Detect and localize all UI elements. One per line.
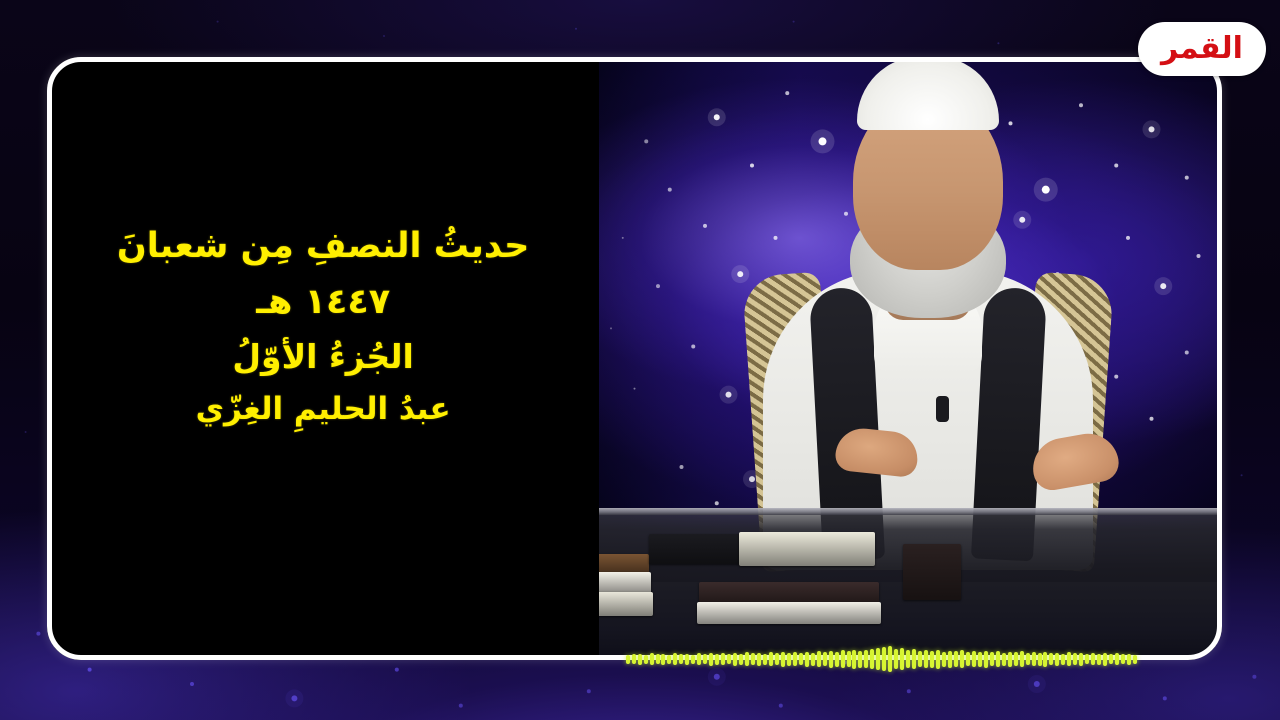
waveform-bar — [954, 651, 958, 667]
title-line-hijri-year: ١٤٤٧ هـ — [256, 278, 390, 328]
title-line-speaker-name: عبدُ الحليمِ الغِزّي — [196, 387, 451, 431]
book-open-left — [649, 534, 745, 564]
waveform-bar — [972, 651, 976, 667]
book-dark-stack — [699, 582, 879, 604]
waveform-bar — [799, 653, 803, 665]
waveform-bar — [960, 650, 964, 668]
waveform-bar — [745, 652, 749, 666]
waveform-bar — [930, 651, 934, 668]
waveform-bar — [1097, 654, 1101, 665]
waveform-bar — [679, 654, 683, 664]
waveform-bar — [894, 649, 898, 669]
broadcast-screen: حديثُ النصفِ مِن شعبانَ ١٤٤٧ هـ الجُزءُ … — [0, 0, 1280, 720]
channel-logo-text: القمر — [1161, 34, 1243, 64]
waveform-bar — [1109, 654, 1113, 664]
waveform-bar — [876, 648, 880, 670]
waveform-bar — [1038, 653, 1042, 666]
video-stage: حديثُ النصفِ مِن شعبانَ ١٤٤٧ هـ الجُزءُ … — [47, 57, 1222, 660]
book-white-stack — [697, 602, 881, 624]
waveform-bar — [763, 654, 767, 665]
waveform-bar — [757, 653, 761, 666]
waveform-bar — [978, 652, 982, 667]
waveform-bar — [703, 654, 707, 664]
waveform-bar — [870, 649, 874, 669]
waveform-bar — [733, 653, 737, 666]
title-line-subject: حديثُ النصفِ مِن شعبانَ — [117, 222, 529, 272]
waveform-bar — [1061, 654, 1065, 665]
waveform-bar — [996, 651, 1000, 667]
waveform-bar — [888, 646, 892, 672]
waveform-bar — [1073, 653, 1077, 665]
waveform-bar — [966, 652, 970, 666]
waveform-bar — [1043, 652, 1047, 667]
waveform-bar — [906, 650, 910, 668]
channel-logo-badge[interactable]: القمر — [1138, 22, 1266, 76]
waveform-bar — [1127, 654, 1131, 665]
waveform-bar — [948, 651, 952, 668]
title-panel: حديثُ النصفِ مِن شعبانَ ١٤٤٧ هـ الجُزءُ … — [47, 57, 599, 660]
waveform-bar — [984, 651, 988, 668]
waveform-bar — [1079, 653, 1083, 666]
book-far-right — [903, 544, 961, 600]
waveform-bar — [900, 648, 904, 670]
waveform-bar — [936, 650, 940, 669]
waveform-bar — [661, 654, 665, 665]
waveform-bar — [942, 652, 946, 667]
waveform-bar — [787, 653, 791, 666]
waveform-bar — [864, 650, 868, 668]
waveform-bar — [817, 651, 821, 667]
waveform-bar — [644, 655, 648, 664]
waveform-bar — [1133, 655, 1137, 664]
waveform-bar — [638, 654, 642, 665]
waveform-bar — [829, 651, 833, 668]
waveform-bar — [1115, 653, 1119, 665]
waveform-bar — [715, 654, 719, 665]
waveform-bar — [709, 653, 713, 666]
waveform-bar — [1002, 653, 1006, 666]
waveform-bar — [1014, 652, 1018, 666]
waveform-bar — [852, 650, 856, 669]
waveform-bar — [793, 652, 797, 666]
waveform-bar — [626, 655, 630, 664]
waveform-bar — [858, 651, 862, 668]
waveform-bar — [1026, 653, 1030, 665]
waveform-bar — [673, 653, 677, 665]
waveform-bar — [685, 654, 689, 665]
title-line-part: الجُزءُ الأوّلُ — [232, 334, 413, 381]
waveform-bar — [990, 652, 994, 666]
waveform-bar — [1049, 653, 1053, 665]
waveform-bar — [918, 651, 922, 667]
waveform-bar — [781, 652, 785, 667]
waveform-bar — [769, 652, 773, 666]
waveform-bar — [811, 653, 815, 666]
waveform-bar — [691, 655, 695, 664]
waveform-bar — [650, 653, 654, 665]
waveform-bar — [882, 647, 886, 671]
waveform-bar — [1067, 652, 1071, 666]
waveform-bar — [912, 649, 916, 669]
waveform-bar — [1008, 652, 1012, 667]
waveform-bar — [775, 653, 779, 665]
waveform-bar — [847, 651, 851, 667]
waveform-bar — [667, 655, 671, 664]
waveform-bar — [823, 652, 827, 666]
waveform-bar — [805, 652, 809, 667]
lapel-microphone-icon — [936, 396, 949, 422]
waveform-bar — [1020, 651, 1024, 667]
waveform-bar — [656, 654, 660, 664]
waveform-bar — [727, 654, 731, 664]
waveform-bar — [924, 650, 928, 668]
waveform-bar — [721, 653, 725, 665]
waveform-bar — [1121, 654, 1125, 664]
waveform-bar — [632, 654, 636, 664]
waveform-bar — [739, 654, 743, 665]
audio-waveform — [625, 646, 1137, 672]
waveform-bar — [1091, 653, 1095, 665]
waveform-bar — [1085, 654, 1089, 664]
waveform-bar — [1055, 653, 1059, 666]
waveform-bar — [751, 653, 755, 665]
waveform-bar — [835, 652, 839, 667]
presenter-figure — [682, 70, 1176, 570]
waveform-bar — [697, 653, 701, 665]
waveform-bar — [1032, 652, 1036, 666]
waveform-bar — [1103, 653, 1107, 666]
waveform-bar — [841, 650, 845, 668]
book-open-right — [739, 532, 875, 566]
